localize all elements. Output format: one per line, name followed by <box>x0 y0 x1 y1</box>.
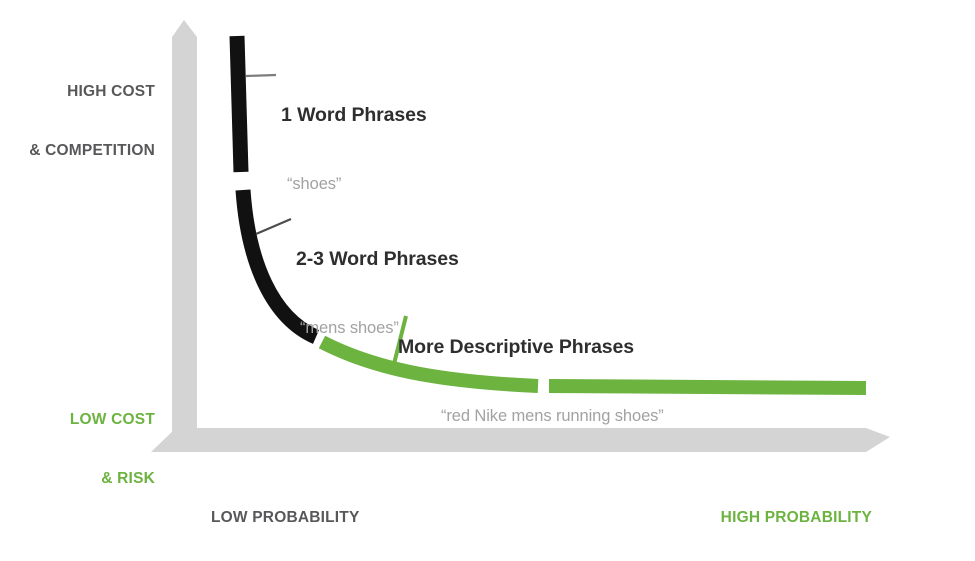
axis-label-high-cost-line2: & COMPETITION <box>0 141 155 161</box>
axis-label-low-cost-risk: LOW COST & RISK <box>0 370 155 529</box>
axis-label-low-cost-line1: LOW COST <box>0 410 155 430</box>
axis-label-high-probability: HIGH PROBABILITY OF CONVERSION <box>660 468 872 561</box>
callout-more-descriptive: More Descriptive Phrases “red Nike mens … <box>398 294 664 468</box>
vertical-axis-arrow <box>172 20 197 452</box>
callout-more-descriptive-example: “red Nike mens running shoes” <box>441 406 664 427</box>
axis-label-high-probability-line1: HIGH PROBABILITY <box>660 508 872 528</box>
leader-line-one-word <box>246 75 276 76</box>
callout-more-descriptive-title: More Descriptive Phrases <box>398 335 664 360</box>
axis-label-high-cost-line1: HIGH COST <box>0 82 155 102</box>
axis-label-high-cost-competition: HIGH COST & COMPETITION <box>0 42 155 201</box>
diagram-canvas: HIGH COST & COMPETITION LOW COST & RISK … <box>0 0 975 561</box>
callout-two-three-word-title: 2-3 Word Phrases <box>296 247 459 272</box>
axis-label-low-cost-line2: & RISK <box>0 469 155 489</box>
callout-one-word-example: “shoes” <box>287 174 427 195</box>
callout-one-word-title: 1 Word Phrases <box>281 103 427 128</box>
axis-label-low-probability-line1: LOW PROBABILITY <box>211 508 360 528</box>
curve-segment-one-word <box>237 36 241 172</box>
axis-label-low-probability: LOW PROBABILITY OF CONVERSION <box>211 468 360 561</box>
